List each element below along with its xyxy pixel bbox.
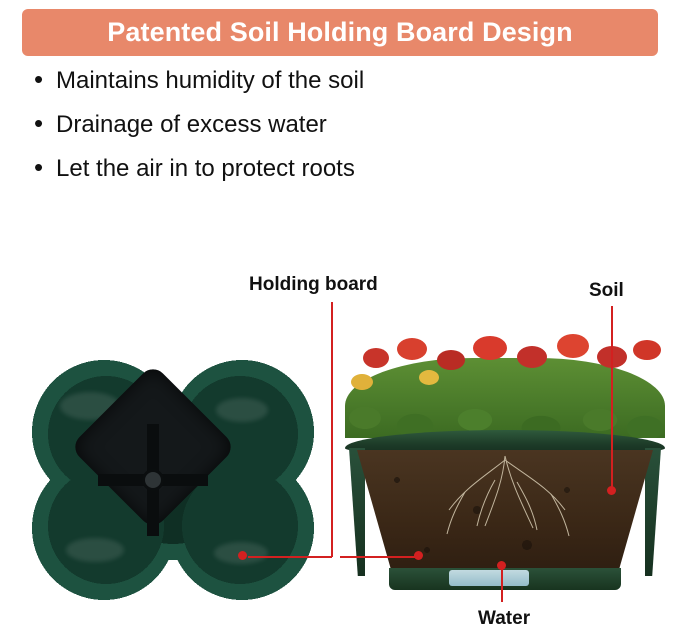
bullet-text: Maintains humidity of the soil (56, 67, 364, 95)
flower-bloom (419, 370, 439, 385)
leader-dot-holding-board (238, 551, 247, 560)
flower-bloom (633, 340, 661, 360)
flower-bloom (351, 374, 373, 390)
list-item: • Drainage of excess water (34, 110, 634, 154)
foliage (345, 358, 665, 438)
water-pool (449, 570, 529, 586)
callout-label-holding-board: Holding board (249, 274, 378, 296)
page-title: Patented Soil Holding Board Design (107, 17, 572, 48)
list-item: • Maintains humidity of the soil (34, 66, 634, 110)
flower-bloom (473, 336, 507, 360)
bullet-dot-icon: • (34, 154, 56, 180)
callout-label-soil: Soil (589, 280, 624, 302)
leader-dot-soil (607, 486, 616, 495)
header-banner: Patented Soil Holding Board Design (22, 9, 658, 56)
leader-line-holding-board-arm (248, 556, 332, 558)
leader-dot-board-pot (414, 551, 423, 560)
bullet-dot-icon: • (34, 66, 56, 92)
highlight-glare (66, 538, 124, 562)
leader-dot-water (497, 561, 506, 570)
leader-line-water (501, 566, 503, 602)
list-item: • Let the air in to protect roots (34, 154, 634, 198)
bullet-dot-icon: • (34, 110, 56, 136)
bullet-text: Let the air in to protect roots (56, 155, 355, 183)
flower-bloom (517, 346, 547, 368)
callout-label-water: Water (478, 608, 530, 630)
flower-bed (345, 330, 665, 438)
feature-bullet-list: • Maintains humidity of the soil • Drain… (34, 66, 634, 198)
flower-bloom (397, 338, 427, 360)
leader-line-soil (611, 306, 613, 488)
flower-bloom (437, 350, 465, 370)
bullet-text: Drainage of excess water (56, 111, 327, 139)
leader-line-holding-board (331, 302, 333, 557)
board-drain-hole (142, 469, 164, 491)
highlight-glare (216, 398, 268, 422)
flower-bloom (557, 334, 589, 358)
leader-line-board-to-pot (340, 556, 420, 558)
flower-bloom (363, 348, 389, 368)
